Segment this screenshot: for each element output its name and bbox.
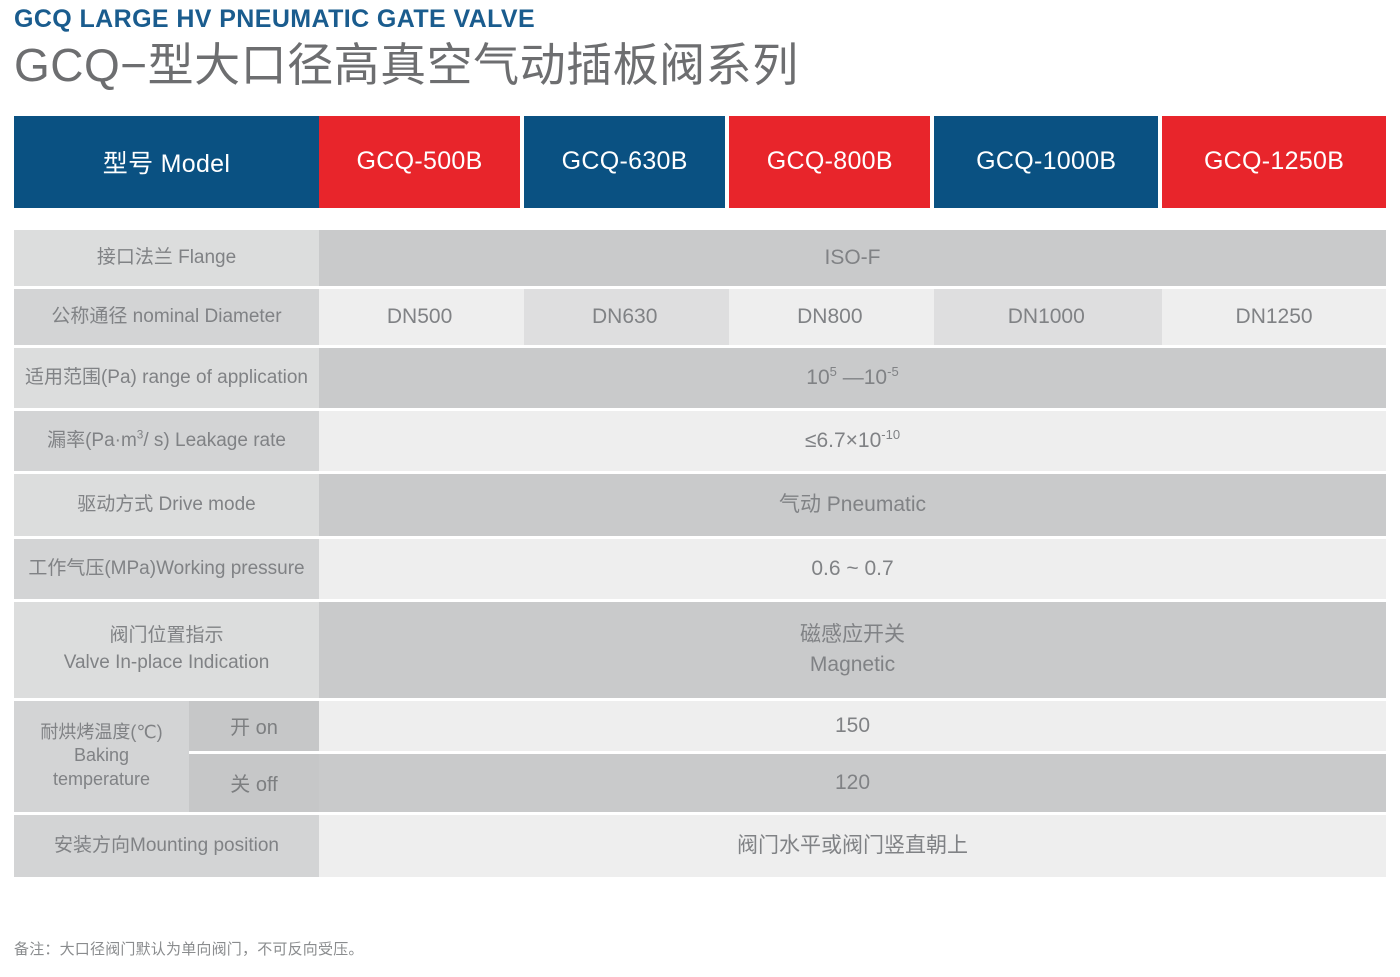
row-value-baking-on: 150: [319, 701, 1386, 751]
row-label-baking-temperature-en2: temperature: [14, 768, 189, 791]
table-row-range-of-application: 适用范围(Pa) range of application 105 —10-5: [14, 348, 1386, 408]
row-label-valve-indication-cn: 阀门位置指示: [14, 623, 319, 650]
row-value-mounting-position: 阀门水平或阀门竖直朝上: [319, 815, 1386, 877]
row-value-baking-off: 120: [319, 754, 1386, 812]
row-value-flange: ISO-F: [319, 230, 1386, 286]
sub-label-baking-on: 开 on: [189, 701, 319, 751]
cell-diameter-1000: DN1000: [934, 289, 1158, 345]
row-value-range-of-application: 105 —10-5: [319, 348, 1386, 408]
sub-label-baking-off: 关 off: [189, 754, 319, 812]
row-label-valve-indication: 阀门位置指示 Valve In-place Indication: [14, 602, 319, 698]
row-label-flange: 接口法兰 Flange: [14, 230, 319, 286]
cell-diameter-1250: DN1250: [1162, 289, 1386, 345]
row-value-valve-indication: 磁感应开关 Magnetic: [319, 602, 1386, 698]
table-row-baking-temperature-on: 耐烘烤温度(℃) Baking temperature 开 on 150: [14, 701, 1386, 751]
row-label-leakage-rate: 漏率(Pa·m3/ s) Leakage rate: [14, 411, 319, 471]
row-label-baking-temperature-en1: Baking: [14, 744, 189, 767]
row-label-working-pressure: 工作气压(MPa)Working pressure: [14, 539, 319, 599]
row-label-valve-indication-en: Valve In-place Indication: [14, 650, 319, 677]
row-label-drive-mode: 驱动方式 Drive mode: [14, 474, 319, 536]
table-row-flange: 接口法兰 Flange ISO-F: [14, 230, 1386, 286]
row-value-leakage-rate: ≤6.7×10-10: [319, 411, 1386, 471]
header-spacer: [14, 208, 1386, 230]
cell-diameter-800: DN800: [729, 289, 930, 345]
table-row-nominal-diameter: 公称通径 nominal Diameter DN500 DN630 DN800 …: [14, 289, 1386, 345]
row-label-range-of-application: 适用范围(Pa) range of application: [14, 348, 319, 408]
row-label-nominal-diameter: 公称通径 nominal Diameter: [14, 289, 319, 345]
table-row-mounting-position: 安装方向Mounting position 阀门水平或阀门竖直朝上: [14, 815, 1386, 877]
table-row-valve-indication: 阀门位置指示 Valve In-place Indication 磁感应开关 M…: [14, 602, 1386, 698]
header-model-label: 型号 Model: [14, 116, 319, 208]
cell-diameter-630: DN630: [524, 289, 725, 345]
cell-diameter-500: DN500: [319, 289, 520, 345]
row-label-baking-temperature: 耐烘烤温度(℃) Baking temperature: [14, 701, 189, 812]
header-model-gcq-500b: GCQ-500B: [319, 116, 520, 208]
header-model-gcq-630b: GCQ-630B: [524, 116, 725, 208]
header-model-gcq-1000b: GCQ-1000B: [934, 116, 1158, 208]
specification-table: 型号 Model GCQ-500B GCQ-630B GCQ-800B GCQ-…: [14, 116, 1386, 877]
table-row-baking-temperature-off: 关 off 120: [14, 754, 1386, 812]
page-title-chinese: GCQ−型大口径高真空气动插板阀系列: [14, 41, 1386, 91]
row-value-drive-mode: 气动 Pneumatic: [319, 474, 1386, 536]
row-label-mounting-position: 安装方向Mounting position: [14, 815, 319, 877]
table-row-drive-mode: 驱动方式 Drive mode 气动 Pneumatic: [14, 474, 1386, 536]
row-value-valve-indication-cn: 磁感应开关: [319, 620, 1386, 650]
row-value-working-pressure: 0.6 ~ 0.7: [319, 539, 1386, 599]
row-value-valve-indication-en: Magnetic: [319, 650, 1386, 680]
table-row-working-pressure: 工作气压(MPa)Working pressure 0.6 ~ 0.7: [14, 539, 1386, 599]
table-footnote: 备注：大口径阀门默认为单向阀门，不可反向受压。: [14, 938, 364, 959]
table-row-leakage-rate: 漏率(Pa·m3/ s) Leakage rate ≤6.7×10-10: [14, 411, 1386, 471]
table-header-row: 型号 Model GCQ-500B GCQ-630B GCQ-800B GCQ-…: [14, 116, 1386, 208]
page-title-english: GCQ LARGE HV PNEUMATIC GATE VALVE: [14, 0, 1386, 32]
header-model-gcq-800b: GCQ-800B: [729, 116, 930, 208]
header-model-gcq-1250b: GCQ-1250B: [1162, 116, 1386, 208]
row-label-baking-temperature-cn: 耐烘烤温度(℃): [14, 721, 189, 744]
spec-sheet-page: GCQ LARGE HV PNEUMATIC GATE VALVE GCQ−型大…: [0, 0, 1400, 977]
